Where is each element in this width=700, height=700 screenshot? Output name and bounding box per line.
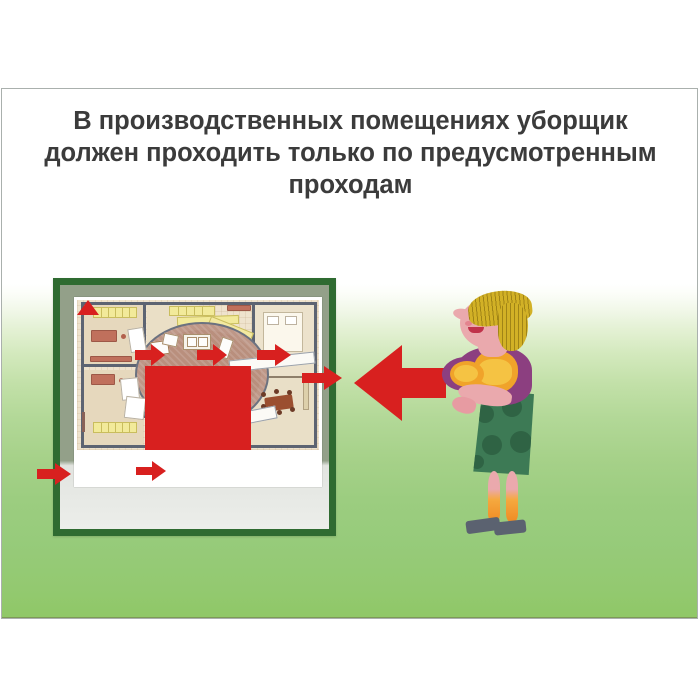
plan-sofa-3	[90, 356, 132, 362]
plan-dot-1	[121, 334, 126, 339]
worker-leg-left	[488, 471, 500, 523]
plan-chair-4	[287, 390, 292, 395]
plan-table-seat-1	[187, 337, 197, 347]
worker-hair-side	[498, 303, 528, 351]
plan-sofa-1	[91, 330, 117, 342]
plan-wall-top	[81, 302, 317, 305]
floor-plan-picture-frame: THE SPACE / PLAN	[53, 278, 336, 536]
worker-bundle-highlight	[454, 365, 478, 382]
plan-sofa-2	[91, 374, 115, 385]
route-arrow-1	[135, 344, 165, 366]
worker-shoe-right	[493, 519, 526, 535]
frame-mat: THE SPACE / PLAN	[60, 285, 329, 529]
plan-pillow-2	[285, 316, 297, 325]
plan-door-left	[82, 412, 85, 432]
route-arrow-3	[257, 344, 291, 366]
plan-pillow-1	[267, 316, 279, 325]
plan-stairs-mid	[169, 306, 215, 316]
plan-stairs-bottom	[93, 422, 137, 433]
route-arrow-3-exit	[302, 366, 342, 390]
poster-panel: В производственных помещениях уборщик до…	[1, 88, 698, 619]
plan-chair-3	[274, 389, 279, 394]
cleaner-character	[432, 285, 552, 553]
entry-arrow-2	[136, 461, 166, 481]
plan-sofa-4	[227, 305, 251, 311]
worker-leg-right	[506, 471, 518, 523]
floor-plan-image: THE SPACE / PLAN	[74, 297, 322, 487]
plan-paper-3	[124, 396, 147, 420]
plan-stairs-top	[93, 307, 137, 318]
floor-plan-drawing: THE SPACE / PLAN	[77, 300, 319, 450]
plan-chair-6	[290, 407, 295, 412]
safety-poster: В производственных помещениях уборщик до…	[0, 0, 700, 700]
plan-chair-1	[261, 392, 266, 397]
entry-arrow-1	[37, 463, 71, 485]
plan-chair-5	[277, 410, 282, 415]
route-arrow-2	[197, 344, 227, 366]
page-title: В производственных помещениях уборщик до…	[2, 105, 698, 201]
